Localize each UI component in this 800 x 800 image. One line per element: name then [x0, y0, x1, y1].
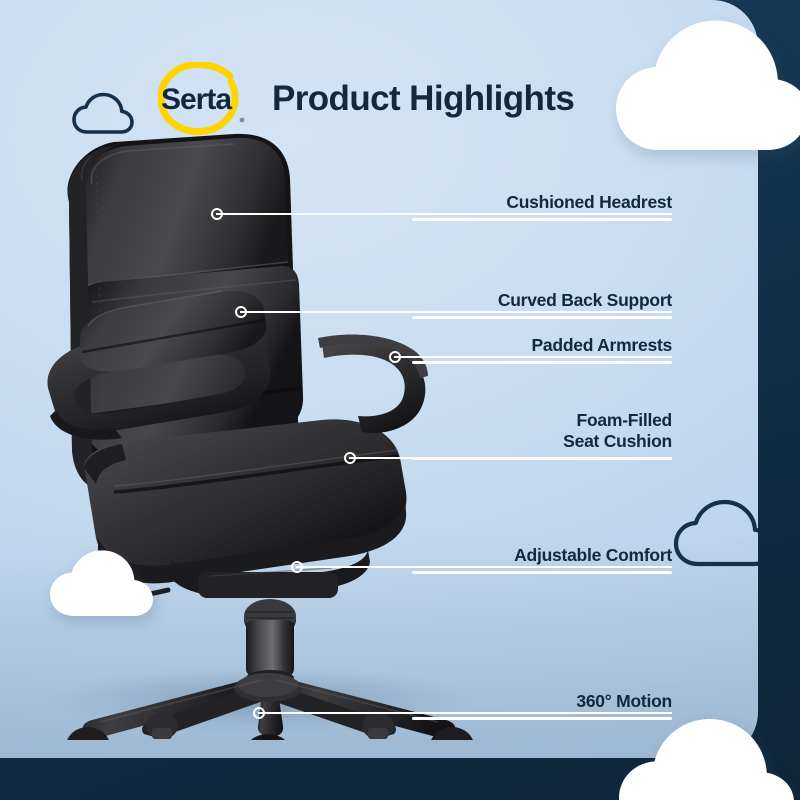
serta-wordmark: Serta	[161, 83, 232, 116]
callout-underline	[412, 361, 672, 364]
callout-cushioned-headrest: Cushioned Headrest	[412, 192, 672, 221]
cloud-solid-left-icon	[48, 548, 166, 620]
callout-label: Cushioned Headrest	[412, 192, 672, 218]
callout-underline	[412, 218, 672, 221]
leader-dot-adjustable-comfort	[291, 561, 303, 573]
leader-dot-curved-back-support	[235, 306, 247, 318]
leader-dot-padded-armrests	[389, 351, 401, 363]
leader-dot-360-motion	[253, 707, 265, 719]
cloud-outline-right-icon	[672, 492, 758, 570]
callout-curved-back-support: Curved Back Support	[412, 290, 672, 319]
callout-padded-armrests: Padded Armrests	[412, 335, 672, 364]
cloud-corner-bottom-right-icon	[616, 680, 800, 800]
callout-label: Padded Armrests	[412, 335, 672, 361]
callout-underline	[412, 316, 672, 319]
callout-underline	[412, 458, 672, 461]
callout-adjustable-comfort: Adjustable Comfort	[412, 545, 672, 574]
callout-foam-filled-seat-cushion: Foam-Filled Seat Cushion	[412, 410, 672, 460]
cloud-outline-top-left-icon	[72, 92, 136, 136]
callout-label: Curved Back Support	[412, 290, 672, 316]
callout-label: Foam-Filled	[412, 410, 672, 431]
serta-logo: Serta	[158, 62, 254, 136]
leader-dot-cushioned-headrest	[211, 208, 223, 220]
infographic-canvas: Serta Product Highlights Cushioned Headr…	[0, 0, 800, 800]
cloud-corner-top-right-icon	[614, 0, 800, 153]
page-title: Product Highlights	[272, 79, 574, 119]
header: Serta Product Highlights	[158, 62, 574, 136]
callout-label-line2: Seat Cushion	[412, 431, 672, 457]
leader-dot-foam-filled-seat-cushion	[344, 452, 356, 464]
callout-label: Adjustable Comfort	[412, 545, 672, 571]
callout-underline	[412, 571, 672, 574]
